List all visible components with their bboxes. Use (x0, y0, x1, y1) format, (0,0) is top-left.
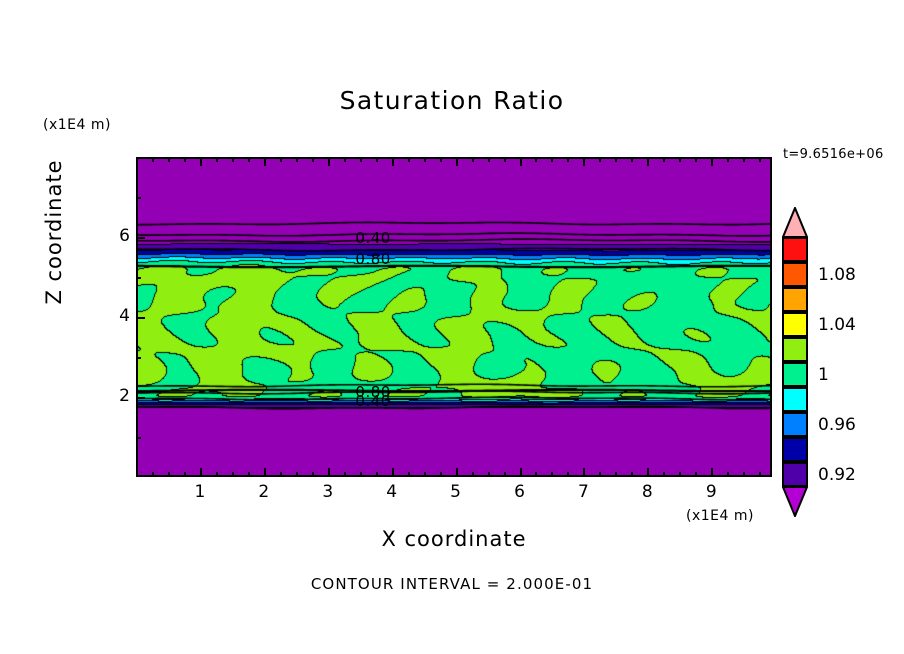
x-minor-tick-top (583, 157, 585, 166)
x-minor-tick-bottom (152, 472, 154, 477)
x-tick-label: 7 (568, 482, 598, 502)
colorbar-top-cap (782, 207, 808, 237)
x-minor-tick-bottom (535, 472, 537, 477)
y-minor-tick (136, 197, 141, 199)
contour-value-label: 0.40 (355, 392, 390, 410)
x-tick-label: 4 (377, 482, 407, 502)
x-minor-tick-top (695, 157, 697, 162)
x-minor-tick-top (280, 157, 282, 162)
x-minor-tick-top (248, 157, 250, 162)
x-tick-label: 2 (249, 482, 279, 502)
x-minor-tick-bottom (743, 472, 745, 477)
colorbar-bottom-cap (782, 487, 808, 517)
x-minor-tick-bottom (408, 472, 410, 477)
x-minor-tick-bottom (216, 472, 218, 477)
colorbar-tick-label: 1.08 (818, 265, 856, 285)
colorbar-tick-label: 0.96 (818, 415, 856, 435)
x-minor-tick-top (711, 157, 713, 166)
y-axis-label: Z coordinate (42, 132, 66, 332)
x-minor-tick-bottom (488, 472, 490, 477)
x-minor-tick-top (328, 157, 330, 166)
contour-plot-area (136, 157, 772, 477)
x-minor-tick-top (344, 157, 346, 162)
x-minor-tick-bottom (615, 472, 617, 477)
colorbar-band (782, 437, 808, 462)
colorbar-band (782, 362, 808, 387)
x-minor-tick-bottom (456, 472, 458, 477)
colorbar-tick-label: 0.92 (818, 465, 856, 485)
y-minor-tick (136, 317, 141, 319)
contour-interval-caption: CONTOUR INTERVAL = 2.000E-01 (0, 575, 904, 593)
x-minor-tick-bottom (599, 472, 601, 477)
x-minor-tick-bottom (344, 472, 346, 477)
x-minor-tick-top (216, 157, 218, 162)
x-minor-tick-top (663, 157, 665, 162)
x-minor-tick-bottom (184, 472, 186, 477)
x-minor-tick-top (376, 157, 378, 162)
x-minor-tick-top (232, 157, 234, 162)
x-minor-tick-top (360, 157, 362, 162)
x-minor-tick-top (599, 157, 601, 162)
x-minor-tick-bottom (440, 472, 442, 477)
x-tick-label: 9 (696, 482, 726, 502)
x-minor-tick-bottom (727, 472, 729, 477)
x-minor-tick-bottom (296, 472, 298, 477)
x-minor-tick-bottom (631, 472, 633, 477)
x-minor-tick-top (184, 157, 186, 162)
x-minor-tick-bottom (360, 472, 362, 477)
x-minor-tick-bottom (264, 472, 266, 477)
x-minor-tick-bottom (663, 472, 665, 477)
colorbar: 1.081.0410.960.92 (782, 207, 812, 507)
x-minor-tick-bottom (312, 472, 314, 477)
x-minor-tick-top (631, 157, 633, 162)
x-axis-label: X coordinate (136, 527, 772, 551)
y-tick-label: 6 (100, 226, 130, 246)
x-minor-tick-top (264, 157, 266, 166)
y-minor-tick (136, 237, 141, 239)
y-minor-tick (136, 277, 141, 279)
x-minor-tick-top (679, 157, 681, 162)
colorbar-band (782, 412, 808, 437)
colorbar-tick-label: 1.04 (818, 315, 856, 335)
chart-title: Saturation Ratio (0, 86, 904, 115)
contour-field (138, 159, 770, 475)
x-minor-tick-bottom (679, 472, 681, 477)
x-minor-tick-bottom (328, 472, 330, 477)
x-minor-tick-bottom (280, 472, 282, 477)
y-minor-tick (136, 397, 141, 399)
colorbar-band (782, 462, 808, 487)
x-minor-tick-bottom (248, 472, 250, 477)
x-minor-tick-bottom (759, 472, 761, 477)
y-axis-unit-label: (x1E4 m) (43, 117, 111, 133)
x-minor-tick-bottom (695, 472, 697, 477)
x-minor-tick-top (551, 157, 553, 162)
x-minor-tick-top (392, 157, 394, 166)
x-minor-tick-top (759, 157, 761, 162)
x-minor-tick-bottom (392, 472, 394, 477)
colorbar-band (782, 262, 808, 287)
x-minor-tick-top (743, 157, 745, 162)
x-minor-tick-bottom (472, 472, 474, 477)
x-minor-tick-top (200, 157, 202, 166)
x-tick-label: 8 (632, 482, 662, 502)
x-tick-label: 6 (505, 482, 535, 502)
contour-value-label: 0.40 (355, 229, 390, 247)
colorbar-band (782, 337, 808, 362)
x-tick-label: 5 (441, 482, 471, 502)
x-minor-tick-bottom (168, 472, 170, 477)
x-minor-tick-top (408, 157, 410, 162)
x-minor-tick-top (727, 157, 729, 162)
x-tick-label: 1 (185, 482, 215, 502)
x-minor-tick-top (472, 157, 474, 162)
x-minor-tick-top (312, 157, 314, 162)
x-minor-tick-top (504, 157, 506, 162)
colorbar-band (782, 312, 808, 337)
x-minor-tick-bottom (647, 472, 649, 477)
x-minor-tick-bottom (424, 472, 426, 477)
time-annotation: t=9.6516e+06 (783, 147, 884, 162)
colorbar-tick-label: 1 (818, 365, 829, 385)
contour-value-label: 0.80 (355, 250, 390, 268)
x-minor-tick-top (535, 157, 537, 162)
x-minor-tick-bottom (200, 472, 202, 477)
y-minor-tick (136, 357, 141, 359)
x-minor-tick-top (647, 157, 649, 166)
y-tick-label: 4 (100, 306, 130, 326)
x-minor-tick-top (567, 157, 569, 162)
x-minor-tick-bottom (551, 472, 553, 477)
x-minor-tick-top (152, 157, 154, 162)
x-axis-unit-label: (x1E4 m) (686, 508, 754, 524)
colorbar-band (782, 387, 808, 412)
x-minor-tick-top (615, 157, 617, 162)
x-minor-tick-top (520, 157, 522, 166)
x-minor-tick-bottom (376, 472, 378, 477)
x-minor-tick-top (296, 157, 298, 162)
x-minor-tick-bottom (583, 472, 585, 477)
x-minor-tick-top (424, 157, 426, 162)
y-minor-tick (136, 437, 141, 439)
colorbar-band (782, 237, 808, 262)
x-minor-tick-top (488, 157, 490, 162)
x-minor-tick-bottom (711, 472, 713, 477)
x-tick-label: 3 (313, 482, 343, 502)
y-tick-label: 2 (100, 386, 130, 406)
x-minor-tick-bottom (232, 472, 234, 477)
x-minor-tick-bottom (567, 472, 569, 477)
x-minor-tick-top (440, 157, 442, 162)
x-minor-tick-bottom (520, 472, 522, 477)
x-minor-tick-top (456, 157, 458, 166)
x-minor-tick-top (168, 157, 170, 162)
colorbar-band (782, 287, 808, 312)
x-minor-tick-bottom (504, 472, 506, 477)
